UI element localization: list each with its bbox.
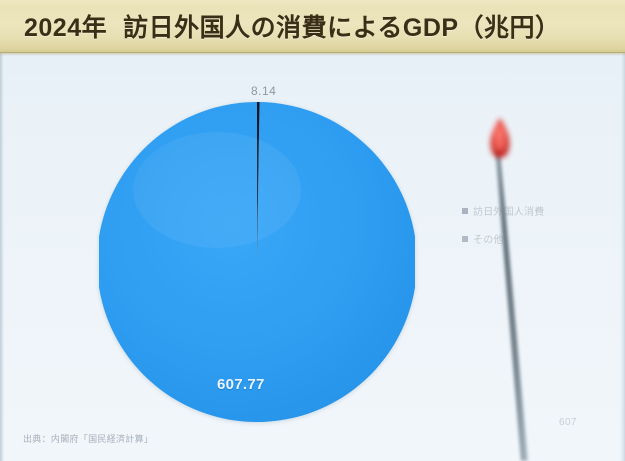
legend-item-other: その他: [462, 231, 582, 246]
navy-swatch-icon: [462, 208, 468, 214]
slide-left-edge: [0, 52, 4, 461]
blue-swatch-icon: [462, 236, 468, 242]
title-bar: 2024年訪日外国人の消費によるGDP（兆円）: [0, 0, 625, 53]
source-note: 出典：内閣府「国民経済計算」: [23, 432, 153, 445]
slide-right-edge: [620, 52, 625, 461]
slide-screenshot: 2024年訪日外国人の消費によるGDP（兆円）: [0, 0, 625, 461]
pie-graphic: 8.14 607.77: [99, 98, 415, 426]
legend-label-other: その他: [473, 231, 504, 246]
pie-chart: 8.14 607.77: [95, 92, 425, 432]
title-subject: 訪日外国人の消費によるGDP（兆円）: [123, 14, 560, 42]
pie-label-other: 607.77: [217, 376, 265, 393]
page-title: 2024年訪日外国人の消費によるGDP（兆円）: [24, 8, 561, 44]
legend-item-inbound-consumption: 訪日外国人消費: [462, 203, 582, 218]
legend-label-inbound-consumption: 訪日外国人消費: [473, 203, 544, 218]
pie-highlight: [133, 132, 301, 248]
stray-data-label: 607: [559, 417, 577, 428]
pie-label-inbound-consumption: 8.14: [251, 84, 276, 98]
title-year: 2024年: [24, 14, 107, 42]
chart-legend: 訪日外国人消費 その他: [462, 203, 582, 259]
